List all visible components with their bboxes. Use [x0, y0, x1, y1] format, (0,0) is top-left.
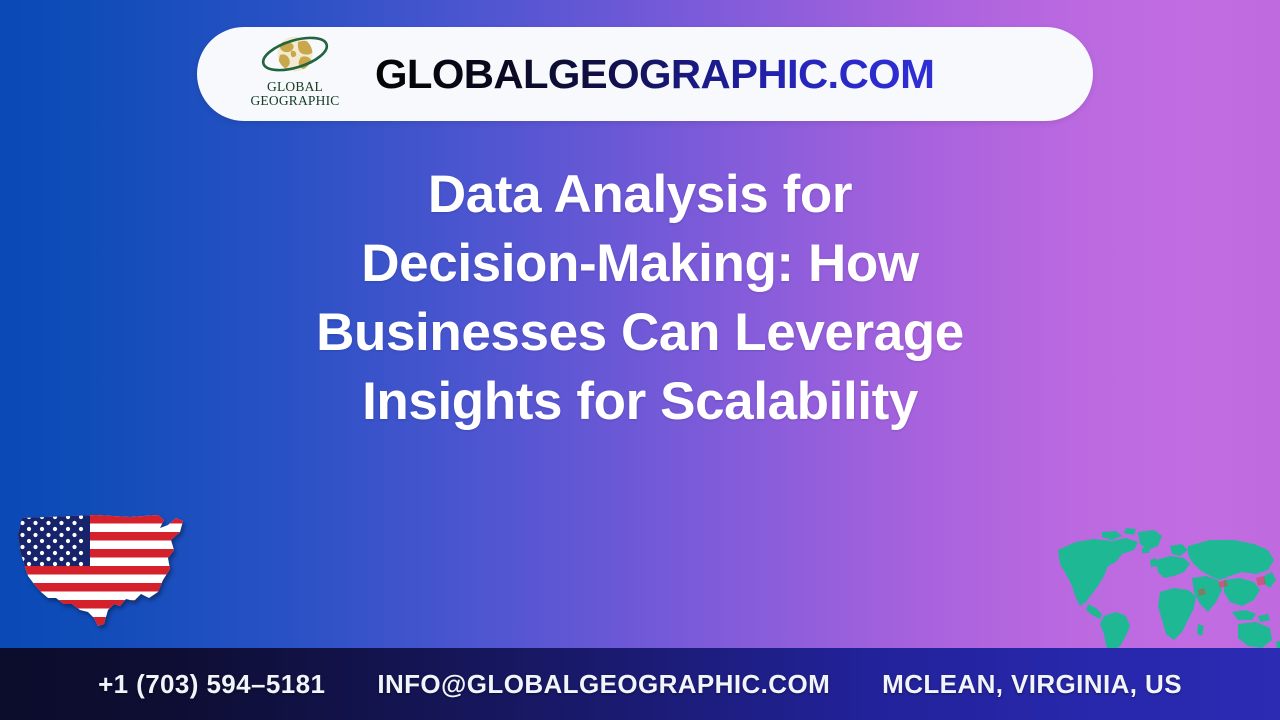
brand-domain-text[interactable]: GLOBALGEOGRAPHIC.COM	[375, 54, 934, 95]
headline-line-2: Decision-Making: How	[190, 229, 1090, 298]
usa-flag-map-icon	[8, 506, 194, 638]
brand-header-pill[interactable]: GLOBAL GEOGRAPHIC GLOBALGEOGRAPHIC.COM	[197, 27, 1093, 121]
headline-line-1: Data Analysis for	[190, 160, 1090, 229]
page-title: Data Analysis for Decision-Making: How B…	[190, 160, 1090, 436]
world-map-icon	[1042, 520, 1280, 654]
logo-wordmark-line1: GLOBAL	[250, 80, 339, 94]
world-map-graphic	[1042, 520, 1280, 654]
contact-footer-bar: +1 (703) 594–5181 INFO@GLOBALGEOGRAPHIC.…	[0, 648, 1280, 720]
logo-wordmark: GLOBAL GEOGRAPHIC	[250, 80, 339, 108]
footer-email[interactable]: INFO@GLOBALGEOGRAPHIC.COM	[377, 669, 830, 700]
article-banner: GLOBAL GEOGRAPHIC GLOBALGEOGRAPHIC.COM D…	[0, 0, 1280, 720]
headline-line-4: Insights for Scalability	[190, 367, 1090, 436]
global-geographic-logo: GLOBAL GEOGRAPHIC	[239, 31, 351, 117]
footer-phone[interactable]: +1 (703) 594–5181	[98, 669, 325, 700]
footer-location: MCLEAN, VIRGINIA, US	[882, 669, 1182, 700]
logo-wordmark-line2: GEOGRAPHIC	[250, 94, 339, 108]
headline-line-3: Businesses Can Leverage	[190, 298, 1090, 367]
globe-logo-icon	[243, 31, 347, 79]
usa-flag-map-graphic	[8, 506, 194, 638]
